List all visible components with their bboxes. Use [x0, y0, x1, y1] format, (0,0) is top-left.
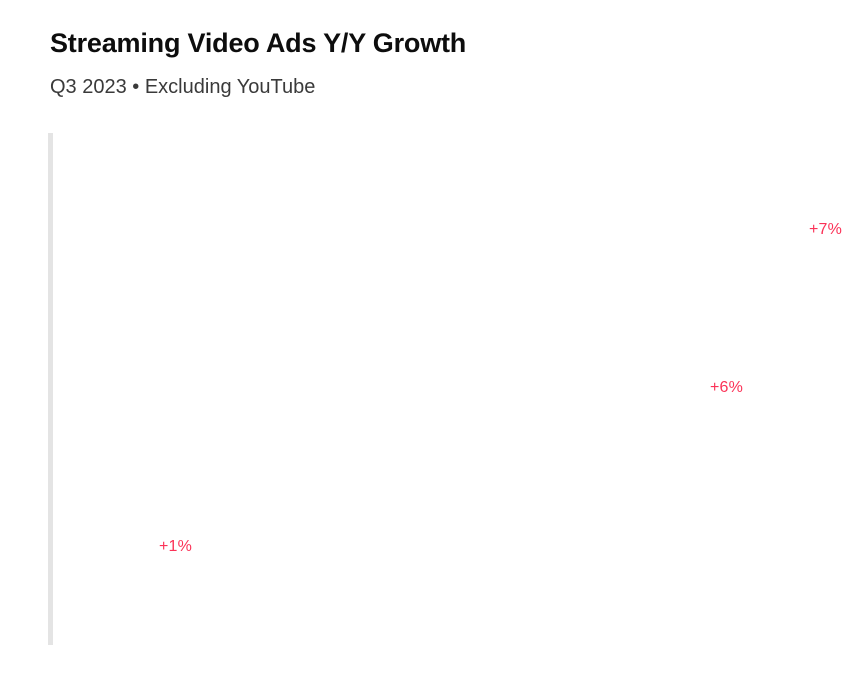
bar-row-impressions: Impressions +6%	[49, 331, 699, 444]
bar-category-label-cpm: CPM	[71, 535, 118, 559]
chart-figure: Streaming Video Ads Y/Y Growth Q3 2023 •…	[0, 0, 864, 698]
bar-value-label-spend: +7%	[809, 221, 842, 239]
plot-area: Spend +7% Impressions +6% CPM +1%	[0, 0, 864, 698]
bar-value-label-cpm: +1%	[159, 538, 192, 556]
bar-category-label-impressions: Impressions	[71, 376, 185, 400]
bar-value-label-impressions: +6%	[710, 379, 743, 397]
bar-row-cpm: CPM +1%	[49, 490, 148, 604]
bar-row-spend: Spend +7%	[49, 172, 798, 287]
bar-category-label-spend: Spend	[71, 218, 132, 242]
